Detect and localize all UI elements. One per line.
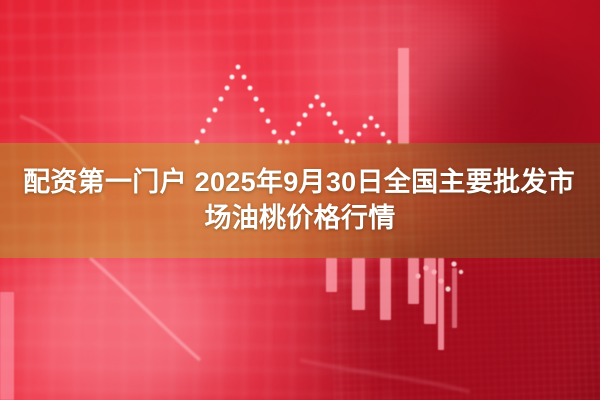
banner-image: 配资第一门户 2025年9月30日全国主要批发市 场油桃价格行情 [0, 0, 600, 400]
headline-line-1: 配资第一门户 2025年9月30日全国主要批发市 [23, 168, 577, 197]
background-grid-fine-top-icon [380, 0, 500, 140]
headline-line-2: 场油桃价格行情 [204, 204, 395, 233]
banner-headline: 配资第一门户 2025年9月30日全国主要批发市 场油桃价格行情 [0, 143, 600, 258]
